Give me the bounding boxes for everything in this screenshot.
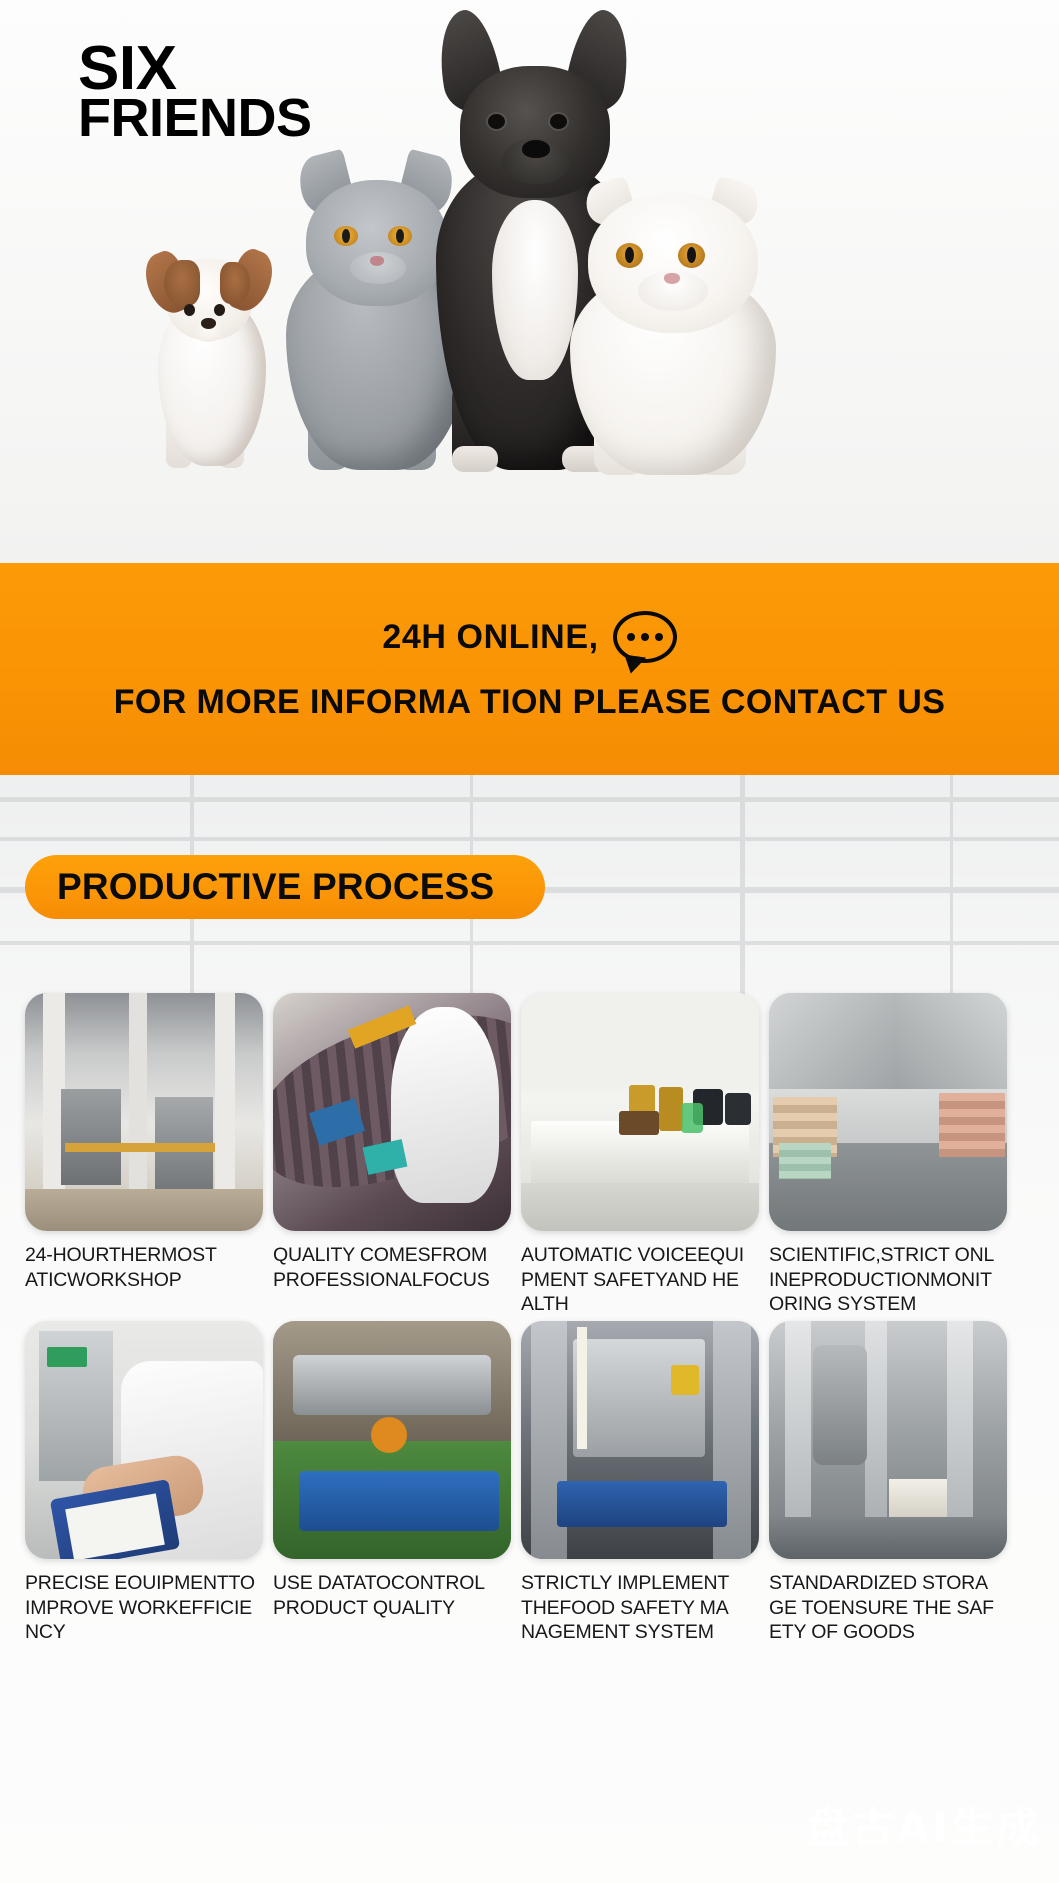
process-thumbnail-factory-thermostatic-workshop[interactable] bbox=[25, 993, 263, 1231]
contact-banner-line2: FOR MORE INFORMA TION PLEASE CONTACT US bbox=[0, 683, 1059, 722]
page-title-line2: FRIENDS bbox=[78, 95, 312, 141]
productive-process-section: PRODUCTIVE PROCESS 24-HOURTHERMOST ATICW… bbox=[0, 775, 1059, 1883]
process-cell[interactable]: PRECISE EOUIPMENTTO IMPROVE WORKEFFICIE … bbox=[25, 1321, 263, 1649]
hero-banner: SIX FRIENDS bbox=[0, 0, 1059, 565]
process-row: PRECISE EOUIPMENTTO IMPROVE WORKEFFICIE … bbox=[0, 1321, 1059, 1649]
process-caption: SCIENTIFIC,STRICT ONL INEPRODUCTIONMONIT… bbox=[769, 1243, 1007, 1321]
process-cell[interactable]: QUALITY COMESFROM PROFESSIONALFOCUS bbox=[273, 993, 511, 1321]
process-cell[interactable]: 24-HOURTHERMOST ATICWORKSHOP bbox=[25, 993, 263, 1321]
contact-banner-line1-row: 24H ONLINE, bbox=[0, 611, 1059, 663]
contact-banner: 24H ONLINE, FOR MORE INFORMA TION PLEASE… bbox=[0, 563, 1059, 775]
process-cell[interactable]: SCIENTIFIC,STRICT ONL INEPRODUCTIONMONIT… bbox=[769, 993, 1007, 1321]
process-thumbnail-clean-room-equipment-area[interactable] bbox=[521, 993, 759, 1231]
process-caption: AUTOMATIC VOICEEQUI PMENT SAFETYAND HE A… bbox=[521, 1243, 759, 1321]
page-title-line1: SIX bbox=[78, 42, 312, 95]
process-caption: STRICTLY IMPLEMENT THEFOOD SAFETY MA NAG… bbox=[521, 1571, 759, 1649]
process-caption: 24-HOURTHERMOST ATICWORKSHOP bbox=[25, 1243, 263, 1321]
process-thumbnail-finished-goods-warehouse[interactable] bbox=[769, 993, 1007, 1231]
process-caption: PRECISE EOUIPMENTTO IMPROVE WORKEFFICIE … bbox=[25, 1571, 263, 1649]
process-thumbnail-production-line-conveyor[interactable] bbox=[273, 1321, 511, 1559]
process-caption: QUALITY COMESFROM PROFESSIONALFOCUS bbox=[273, 1243, 511, 1321]
process-row: 24-HOURTHERMOST ATICWORKSHOP QUALITY COM… bbox=[0, 993, 1059, 1321]
page-title: SIX FRIENDS bbox=[78, 42, 312, 142]
section-title: PRODUCTIVE PROCESS bbox=[57, 866, 494, 908]
product-detail-page: SIX FRIENDS 24H ONLINE, FOR MORE INFORMA… bbox=[0, 0, 1059, 1883]
process-cell[interactable]: STANDARDIZED STORA GE TOENSURE THE SAF E… bbox=[769, 1321, 1007, 1649]
section-title-pill: PRODUCTIVE PROCESS bbox=[25, 855, 545, 919]
process-thumbnail-quality-inspector-with-clipboard[interactable] bbox=[25, 1321, 263, 1559]
process-caption: USE DATATOCONTROL PRODUCT QUALITY bbox=[273, 1571, 511, 1649]
contact-banner-line1: 24H ONLINE, bbox=[382, 618, 598, 657]
process-caption: STANDARDIZED STORA GE TOENSURE THE SAF E… bbox=[769, 1571, 1007, 1649]
process-cell[interactable]: AUTOMATIC VOICEEQUI PMENT SAFETYAND HE A… bbox=[521, 993, 759, 1321]
ai-watermark: 盘古AI生成 bbox=[807, 1794, 1041, 1855]
process-cell[interactable]: USE DATATOCONTROL PRODUCT QUALITY bbox=[273, 1321, 511, 1649]
process-cell[interactable]: STRICTLY IMPLEMENT THEFOOD SAFETY MA NAG… bbox=[521, 1321, 759, 1649]
white-cat-illustration bbox=[560, 175, 785, 475]
process-thumbnail-processing-plant-interior[interactable] bbox=[769, 1321, 1007, 1559]
process-grid: 24-HOURTHERMOST ATICWORKSHOP QUALITY COM… bbox=[0, 993, 1059, 1649]
process-thumbnail-packing-machine-station[interactable] bbox=[521, 1321, 759, 1559]
chat-bubble-icon bbox=[613, 611, 677, 663]
process-thumbnail-spiral-conveyor-packaging-line[interactable] bbox=[273, 993, 511, 1231]
chihuahua-puppy-illustration bbox=[140, 218, 285, 468]
